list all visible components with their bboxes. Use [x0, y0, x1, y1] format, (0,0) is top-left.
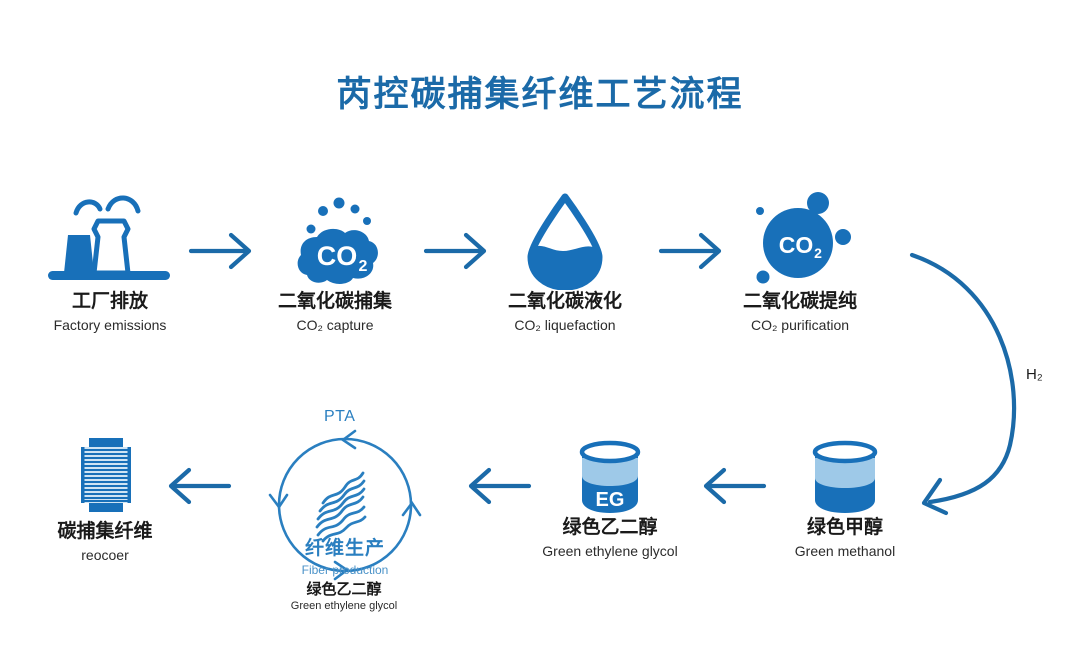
factory-icon — [20, 185, 200, 290]
step-co2-purification[interactable]: CO 2 二氧化碳提纯 CO₂ purification — [710, 185, 890, 335]
step-label-en: Green methanol — [755, 542, 935, 561]
step-label-cn: 二氧化碳捕集 — [245, 290, 425, 314]
svg-text:CO: CO — [779, 232, 814, 258]
svg-text:2: 2 — [359, 258, 368, 275]
step-label-en: Green ethylene glycol — [520, 542, 700, 561]
step-fiber-production[interactable]: 纤维生产 Fiber production — [265, 425, 425, 585]
svg-text:CO: CO — [317, 241, 358, 271]
co2-cloud-icon: CO 2 — [245, 185, 425, 290]
flow-diagram-canvas: 芮控碳捕集纤维工艺流程 — [0, 0, 1080, 671]
page-title: 芮控碳捕集纤维工艺流程 — [0, 66, 1080, 117]
step-label-cn: 工厂排放 — [20, 290, 200, 314]
fiber-circle-icon: 纤维生产 Fiber production — [265, 425, 425, 585]
eg-badge-text: EG — [596, 489, 625, 511]
droplet-icon — [475, 185, 655, 290]
step-label-en: CO₂ purification — [710, 316, 890, 335]
step-label-cn: 绿色乙二醇 — [520, 516, 700, 540]
h2-text: H₂ — [1026, 366, 1043, 383]
eg-return-label: 绿色乙二醇 Green ethylene glycol — [264, 578, 424, 612]
h2-label: H₂ — [1026, 366, 1043, 383]
eg-return-cn: 绿色乙二醇 — [264, 578, 424, 599]
step-green-ethylene-glycol[interactable]: EG 绿色乙二醇 Green ethylene glycol — [520, 438, 700, 561]
svg-text:2: 2 — [814, 245, 822, 261]
step-label-cn: 绿色甲醇 — [755, 516, 935, 540]
step-label-en: CO₂ capture — [245, 316, 425, 335]
step-co2-liquefaction[interactable]: 二氧化碳液化 CO₂ liquefaction — [475, 185, 655, 335]
pta-label: PTA — [324, 408, 355, 426]
spool-icon — [15, 430, 195, 520]
tank-icon — [755, 438, 935, 516]
step-label-cn: 二氧化碳提纯 — [710, 290, 890, 314]
step-label-cn: 碳捕集纤维 — [15, 520, 195, 544]
step-label-en: reocoer — [15, 546, 195, 565]
step-carbon-fiber[interactable]: 碳捕集纤维 reocoer — [15, 430, 195, 565]
eg-tank-icon: EG — [520, 438, 700, 516]
step-factory-emissions[interactable]: 工厂排放 Factory emissions — [20, 185, 200, 335]
eg-return-en: Green ethylene glycol — [264, 600, 424, 612]
step-label-cn: 二氧化碳液化 — [475, 290, 655, 314]
step-label-en: Factory emissions — [20, 316, 200, 335]
step-label-en: CO₂ liquefaction — [475, 316, 655, 335]
step-co2-capture[interactable]: CO 2 二氧化碳捕集 CO₂ capture — [245, 185, 425, 335]
co2-molecule-icon: CO 2 — [710, 185, 890, 290]
step-green-methanol[interactable]: 绿色甲醇 Green methanol — [755, 438, 935, 561]
pta-text: PTA — [324, 408, 355, 425]
